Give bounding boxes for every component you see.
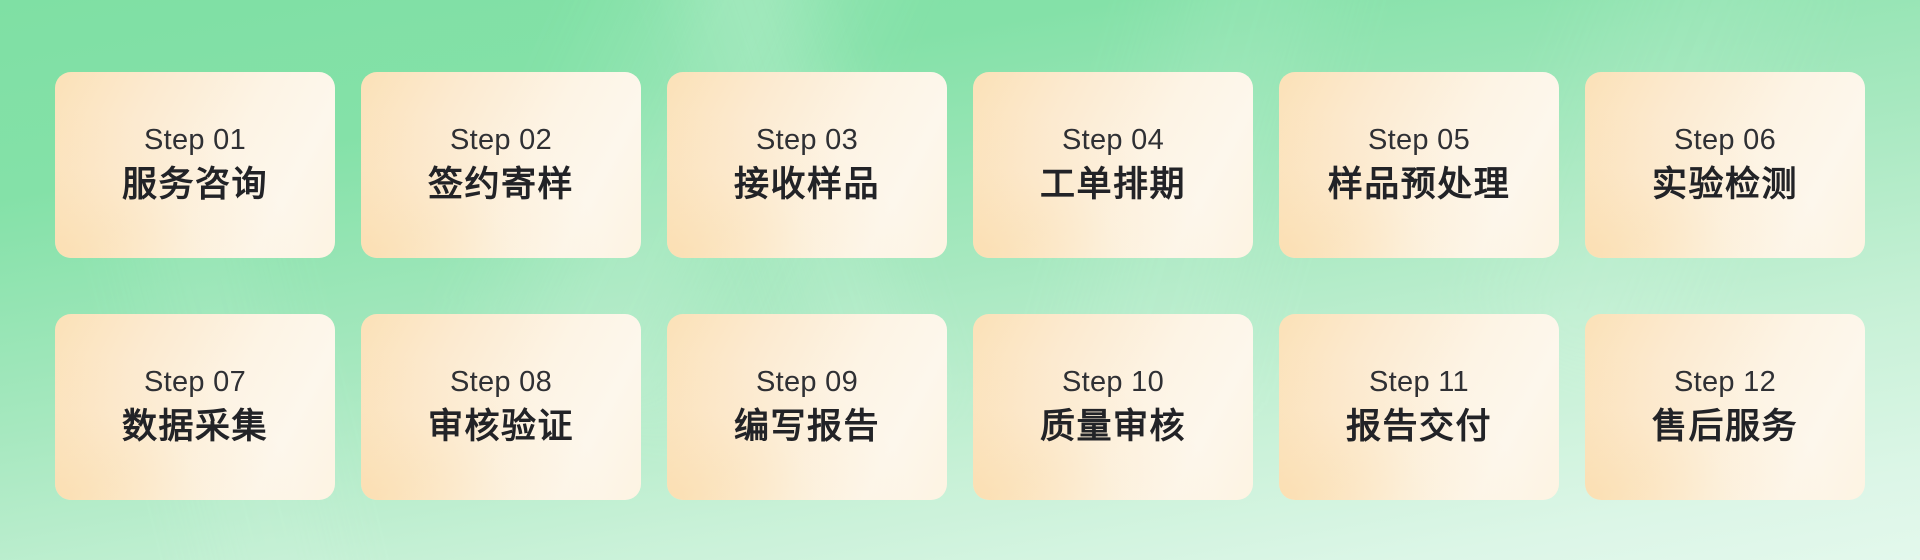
step-card-05[interactable]: Step 05 样品预处理: [1279, 72, 1559, 258]
step-card-03[interactable]: Step 03 接收样品: [667, 72, 947, 258]
step-card-01[interactable]: Step 01 服务咨询: [55, 72, 335, 258]
step-number-label: Step 05: [1368, 124, 1470, 157]
step-number-label: Step 02: [450, 124, 552, 157]
step-card-04[interactable]: Step 04 工单排期: [973, 72, 1253, 258]
step-title: 报告交付: [1346, 406, 1492, 448]
step-number-label: Step 11: [1369, 366, 1469, 399]
step-card-12[interactable]: Step 12 售后服务: [1585, 314, 1865, 500]
step-title: 样品预处理: [1328, 164, 1511, 206]
step-card-09[interactable]: Step 09 编写报告: [667, 314, 947, 500]
step-number-label: Step 07: [144, 366, 246, 399]
step-title: 质量审核: [1040, 406, 1186, 448]
step-number-label: Step 06: [1674, 124, 1776, 157]
step-card-11[interactable]: Step 11 报告交付: [1279, 314, 1559, 500]
step-title: 售后服务: [1652, 406, 1798, 448]
step-title: 服务咨询: [122, 164, 268, 206]
step-number-label: Step 09: [756, 366, 858, 399]
step-title: 编写报告: [734, 406, 880, 448]
step-title: 签约寄样: [428, 164, 574, 206]
process-flow-banner: Step 01 服务咨询 Step 02 签约寄样 Step 03 接收样品 S…: [0, 0, 1920, 560]
step-title: 数据采集: [122, 406, 268, 448]
step-card-grid: Step 01 服务咨询 Step 02 签约寄样 Step 03 接收样品 S…: [55, 72, 1865, 500]
step-card-08[interactable]: Step 08 审核验证: [361, 314, 641, 500]
step-card-10[interactable]: Step 10 质量审核: [973, 314, 1253, 500]
step-card-06[interactable]: Step 06 实验检测: [1585, 72, 1865, 258]
step-number-label: Step 01: [144, 124, 246, 157]
step-card-07[interactable]: Step 07 数据采集: [55, 314, 335, 500]
step-title: 审核验证: [428, 406, 574, 448]
step-title: 工单排期: [1040, 164, 1186, 206]
step-number-label: Step 10: [1062, 366, 1164, 399]
step-number-label: Step 03: [756, 124, 858, 157]
step-card-02[interactable]: Step 02 签约寄样: [361, 72, 641, 258]
step-number-label: Step 08: [450, 366, 552, 399]
step-title: 实验检测: [1652, 164, 1798, 206]
step-title: 接收样品: [734, 164, 880, 206]
step-number-label: Step 04: [1062, 124, 1164, 157]
step-number-label: Step 12: [1674, 366, 1776, 399]
